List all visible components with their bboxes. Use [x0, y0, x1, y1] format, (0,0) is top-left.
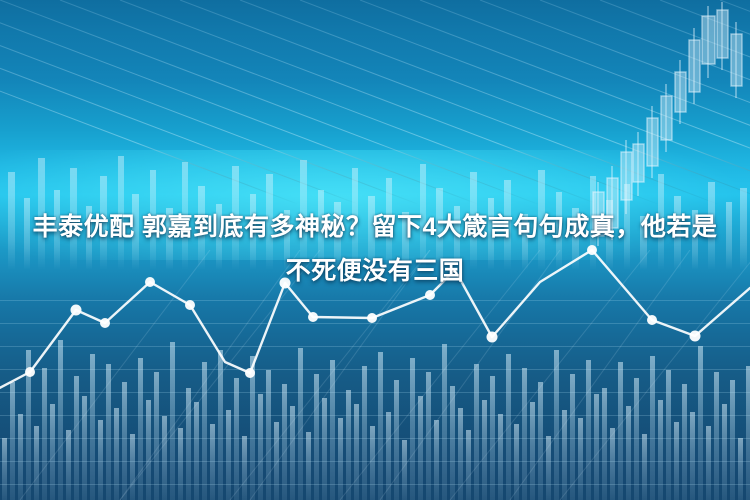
- trend-line-chart: [0, 0, 750, 500]
- promo-banner: 丰泰优配 郭嘉到底有多神秘？留下4大箴言句句成真，他若是 不死便没有三国: [0, 0, 750, 500]
